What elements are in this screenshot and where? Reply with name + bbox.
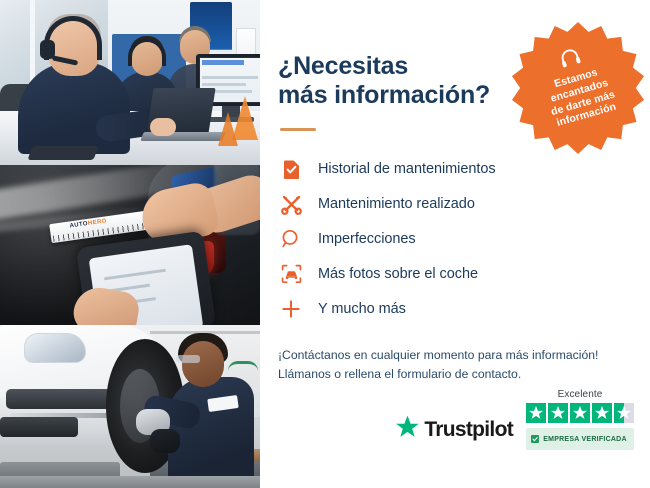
- page-title: ¿Necesitas más información?: [278, 52, 518, 111]
- star-rating: [526, 403, 634, 423]
- feature-item-much-more: Y mucho más: [278, 293, 628, 326]
- document-check-icon: [278, 159, 304, 180]
- headline-line-1: ¿Necesitas: [278, 52, 408, 80]
- workshop-technician-wheel-photo: [0, 325, 260, 488]
- feature-label: Historial de mantenimientos: [318, 161, 496, 177]
- car-headlight: [24, 333, 86, 363]
- trustpilot-widget[interactable]: Trustpilot Excelente: [395, 389, 634, 450]
- plus-icon: [278, 299, 304, 319]
- car-grille: [6, 389, 118, 409]
- technician-safety-glasses: [176, 355, 200, 363]
- green-hose: [228, 361, 258, 371]
- verified-check-icon: [531, 430, 539, 448]
- trustpilot-wordmark: Trustpilot: [424, 418, 513, 442]
- monitor-content-row: [202, 83, 246, 86]
- star-filled: [526, 403, 546, 423]
- star-half: [614, 403, 634, 423]
- workshop-floor: [0, 476, 260, 488]
- information-banner: AUTOHERO: [0, 0, 650, 488]
- verified-label: EMPRESA VERIFICADA: [543, 436, 627, 443]
- lower-air-intake: [0, 417, 78, 437]
- title-divider: [280, 128, 316, 131]
- verified-company-badge: EMPRESA VERIFICADA: [526, 428, 634, 450]
- call-center-agents-photo: [0, 0, 260, 165]
- monitor-content-row: [202, 76, 258, 79]
- feature-item-more-photos: Más fotos sobre el coche: [278, 258, 628, 291]
- magnifier-icon: [278, 229, 304, 249]
- traffic-cone: [218, 112, 238, 146]
- feature-item-imperfections: Imperfecciones: [278, 223, 628, 256]
- brand-text-hero: HERO: [88, 218, 108, 227]
- rating-label: Excelente: [558, 389, 603, 400]
- main-agent-hand: [150, 118, 176, 136]
- feature-list: Historial de mantenimientos M: [278, 153, 628, 326]
- trustpilot-star-icon: [395, 415, 420, 444]
- contact-copy-line-1: ¡Contáctanos en cualquier momento para m…: [278, 348, 598, 362]
- tools-cross-icon: [278, 194, 304, 215]
- brand-text-auto: AUTO: [69, 221, 88, 230]
- feature-label: Más fotos sobre el coche: [318, 266, 478, 282]
- technician-head: [182, 341, 224, 387]
- technician-body: [168, 377, 254, 488]
- autohero-brand-text: AUTOHERO: [69, 218, 107, 229]
- contact-copy: ¡Contáctanos en cualquier momento para m…: [278, 346, 628, 386]
- star-filled: [570, 403, 590, 423]
- feature-label: Imperfecciones: [318, 231, 416, 247]
- promo-badge: Estamos encantados de darte más informac…: [512, 22, 644, 154]
- desk-tablet: [27, 146, 98, 160]
- monitor-header-bar: [202, 60, 244, 65]
- feature-item-maintenance-history: Historial de mantenimientos: [278, 153, 628, 186]
- headline-line-2: más información?: [278, 81, 490, 109]
- content-panel: ¿Necesitas más información? Estamos enca…: [260, 0, 650, 488]
- car-inspection-ruler-tablet-photo: AUTOHERO: [0, 165, 260, 325]
- star-filled: [548, 403, 568, 423]
- trustpilot-logo[interactable]: Trustpilot: [395, 415, 513, 450]
- feature-item-maintenance-done: Mantenimiento realizado: [278, 188, 628, 221]
- star-filled: [592, 403, 612, 423]
- photo-column: AUTOHERO: [0, 0, 260, 488]
- feature-label: Mantenimiento realizado: [318, 196, 475, 212]
- car-scan-icon: [278, 264, 304, 284]
- feature-label: Y mucho más: [318, 301, 406, 317]
- technician-glove-dark: [150, 429, 180, 453]
- trustpilot-rating: Excelente: [526, 389, 634, 450]
- contact-copy-line-2: Llámanos o rellena el formulario de cont…: [278, 367, 521, 381]
